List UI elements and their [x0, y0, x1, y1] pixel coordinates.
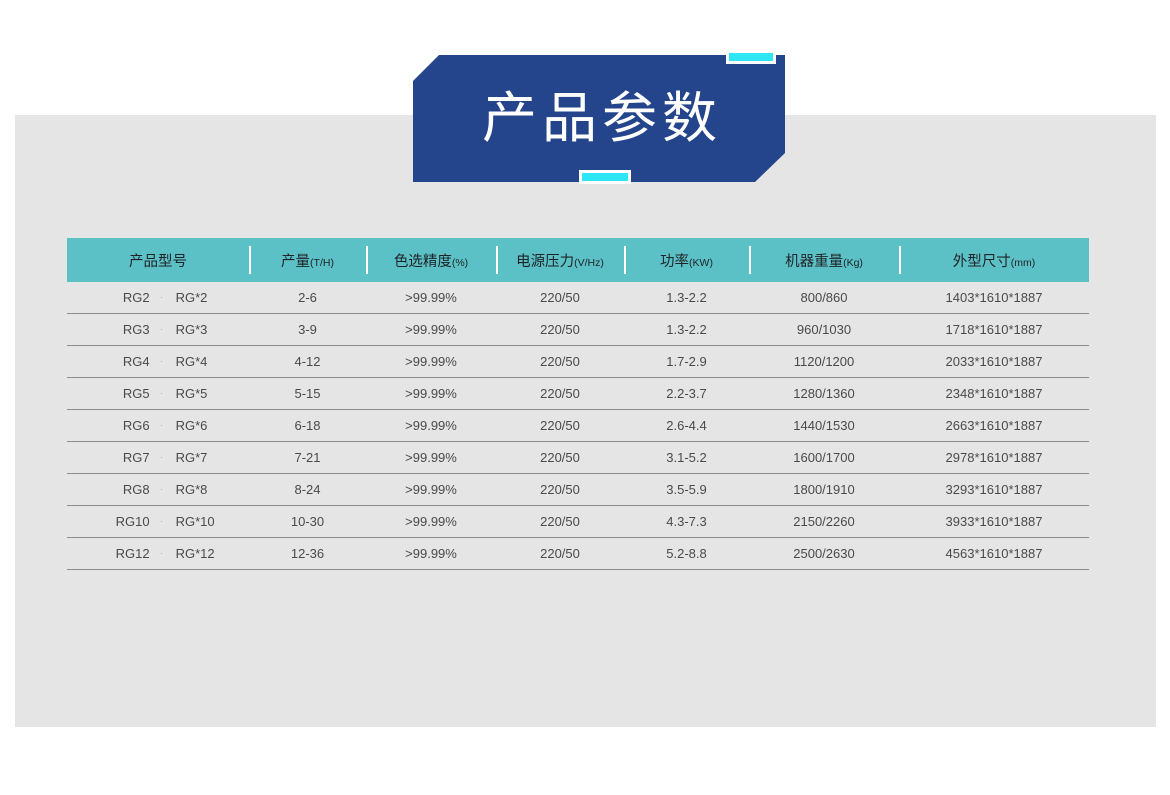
cell-dimension: 2348*1610*1887 [899, 378, 1089, 410]
cell-weight: 800/860 [749, 282, 899, 314]
cell-model: RG12RG*12 [67, 538, 249, 570]
cell-voltage: 220/50 [496, 314, 624, 346]
cell-model: RG8RG*8 [67, 474, 249, 506]
table-header-row: 产品型号 产量(T/H) 色选精度(%) 电源压力(V/Hz) 功率(KW) 机… [67, 238, 1089, 282]
cell-weight: 1600/1700 [749, 442, 899, 474]
cell-weight: 1440/1530 [749, 410, 899, 442]
cell-model-primary: RG5 [67, 386, 162, 401]
table-body: RG2RG*22-6>99.99%220/501.3-2.2800/860140… [67, 282, 1089, 570]
cell-model-secondary: RG*3 [162, 322, 249, 337]
cell-power: 5.2-8.8 [624, 538, 749, 570]
column-header-weight: 机器重量(Kg) [749, 238, 899, 282]
cell-capacity: 10-30 [249, 506, 366, 538]
cell-weight: 2150/2260 [749, 506, 899, 538]
cell-model-secondary: RG*8 [162, 482, 249, 497]
cell-model: RG2RG*2 [67, 282, 249, 314]
table-row: RG2RG*22-6>99.99%220/501.3-2.2800/860140… [67, 282, 1089, 314]
cell-model-primary: RG10 [67, 514, 162, 529]
cell-voltage: 220/50 [496, 410, 624, 442]
cell-power: 1.7-2.9 [624, 346, 749, 378]
accent-bar-bottom-icon [579, 170, 631, 184]
cell-power: 3.5-5.9 [624, 474, 749, 506]
column-header-capacity: 产量(T/H) [249, 238, 366, 282]
cell-accuracy: >99.99% [366, 506, 496, 538]
table-row: RG6RG*66-18>99.99%220/502.6-4.41440/1530… [67, 410, 1089, 442]
cell-voltage: 220/50 [496, 346, 624, 378]
column-header-accuracy: 色选精度(%) [366, 238, 496, 282]
table-row: RG7RG*77-21>99.99%220/503.1-5.21600/1700… [67, 442, 1089, 474]
cell-capacity: 5-15 [249, 378, 366, 410]
cell-voltage: 220/50 [496, 506, 624, 538]
column-header-model: 产品型号 [67, 238, 249, 282]
cell-accuracy: >99.99% [366, 538, 496, 570]
table-row: RG4RG*44-12>99.99%220/501.7-2.91120/1200… [67, 346, 1089, 378]
cell-voltage: 220/50 [496, 442, 624, 474]
page-title: 产品参数 [413, 55, 785, 182]
cell-dimension: 3293*1610*1887 [899, 474, 1089, 506]
cell-model-primary: RG2 [67, 290, 162, 305]
cell-model-primary: RG3 [67, 322, 162, 337]
cell-model: RG6RG*6 [67, 410, 249, 442]
column-header-dimension: 外型尺寸(mm) [899, 238, 1089, 282]
cell-accuracy: >99.99% [366, 282, 496, 314]
column-header-accuracy-unit: (%) [452, 257, 468, 269]
cell-capacity: 8-24 [249, 474, 366, 506]
cell-accuracy: >99.99% [366, 378, 496, 410]
accent-bar-top-icon [726, 50, 776, 64]
cell-model: RG4RG*4 [67, 346, 249, 378]
cell-model-primary: RG12 [67, 546, 162, 561]
cell-model: RG5RG*5 [67, 378, 249, 410]
cell-power: 2.6-4.4 [624, 410, 749, 442]
column-header-voltage-label: 电源压力 [516, 254, 574, 270]
cell-dimension: 2033*1610*1887 [899, 346, 1089, 378]
cell-model-secondary: RG*10 [162, 514, 249, 529]
cell-accuracy: >99.99% [366, 314, 496, 346]
cell-model-secondary: RG*4 [162, 354, 249, 369]
cell-capacity: 12-36 [249, 538, 366, 570]
cell-dimension: 4563*1610*1887 [899, 538, 1089, 570]
cell-weight: 1120/1200 [749, 346, 899, 378]
table-row: RG12RG*1212-36>99.99%220/505.2-8.82500/2… [67, 538, 1089, 570]
cell-model-secondary: RG*7 [162, 450, 249, 465]
column-header-power: 功率(KW) [624, 238, 749, 282]
cell-dimension: 2978*1610*1887 [899, 442, 1089, 474]
cell-model: RG7RG*7 [67, 442, 249, 474]
column-header-accuracy-label: 色选精度 [394, 254, 452, 270]
table-header: 产品型号 产量(T/H) 色选精度(%) 电源压力(V/Hz) 功率(KW) 机… [67, 238, 1089, 282]
table-row: RG8RG*88-24>99.99%220/503.5-5.91800/1910… [67, 474, 1089, 506]
cell-model-secondary: RG*2 [162, 290, 249, 305]
cell-model-secondary: RG*5 [162, 386, 249, 401]
cell-capacity: 7-21 [249, 442, 366, 474]
cell-model-secondary: RG*6 [162, 418, 249, 433]
cell-voltage: 220/50 [496, 538, 624, 570]
cell-capacity: 3-9 [249, 314, 366, 346]
column-header-capacity-label: 产量 [281, 254, 310, 270]
cell-voltage: 220/50 [496, 474, 624, 506]
cell-model-primary: RG6 [67, 418, 162, 433]
cell-model-secondary: RG*12 [162, 546, 249, 561]
cell-model: RG10RG*10 [67, 506, 249, 538]
table-row: RG3RG*33-9>99.99%220/501.3-2.2960/103017… [67, 314, 1089, 346]
cell-power: 1.3-2.2 [624, 282, 749, 314]
cell-weight: 1800/1910 [749, 474, 899, 506]
cell-power: 2.2-3.7 [624, 378, 749, 410]
column-header-model-label: 产品型号 [129, 254, 187, 270]
column-header-weight-unit: (Kg) [843, 257, 863, 269]
column-header-voltage: 电源压力(V/Hz) [496, 238, 624, 282]
cell-weight: 1280/1360 [749, 378, 899, 410]
cell-power: 4.3-7.3 [624, 506, 749, 538]
product-spec-table: 产品型号 产量(T/H) 色选精度(%) 电源压力(V/Hz) 功率(KW) 机… [67, 238, 1089, 570]
cell-model-primary: RG4 [67, 354, 162, 369]
column-header-capacity-unit: (T/H) [310, 257, 334, 269]
cell-capacity: 6-18 [249, 410, 366, 442]
column-header-power-unit: (KW) [689, 257, 713, 269]
cell-capacity: 2-6 [249, 282, 366, 314]
cell-voltage: 220/50 [496, 282, 624, 314]
cell-model: RG3RG*3 [67, 314, 249, 346]
cell-dimension: 3933*1610*1887 [899, 506, 1089, 538]
column-header-dimension-label: 外型尺寸 [953, 254, 1011, 270]
cell-model-primary: RG8 [67, 482, 162, 497]
cell-dimension: 1403*1610*1887 [899, 282, 1089, 314]
page-title-banner: 产品参数 [413, 55, 785, 182]
column-header-power-label: 功率 [660, 254, 689, 270]
cell-dimension: 2663*1610*1887 [899, 410, 1089, 442]
cell-weight: 2500/2630 [749, 538, 899, 570]
cell-accuracy: >99.99% [366, 346, 496, 378]
column-header-weight-label: 机器重量 [785, 254, 843, 270]
cell-accuracy: >99.99% [366, 442, 496, 474]
cell-dimension: 1718*1610*1887 [899, 314, 1089, 346]
column-header-voltage-unit: (V/Hz) [574, 257, 604, 269]
cell-voltage: 220/50 [496, 378, 624, 410]
cell-power: 1.3-2.2 [624, 314, 749, 346]
column-header-dimension-unit: (mm) [1011, 257, 1036, 269]
cell-capacity: 4-12 [249, 346, 366, 378]
cell-power: 3.1-5.2 [624, 442, 749, 474]
cell-model-primary: RG7 [67, 450, 162, 465]
cell-weight: 960/1030 [749, 314, 899, 346]
cell-accuracy: >99.99% [366, 474, 496, 506]
table-row: RG5RG*55-15>99.99%220/502.2-3.71280/1360… [67, 378, 1089, 410]
cell-accuracy: >99.99% [366, 410, 496, 442]
table-row: RG10RG*1010-30>99.99%220/504.3-7.32150/2… [67, 506, 1089, 538]
